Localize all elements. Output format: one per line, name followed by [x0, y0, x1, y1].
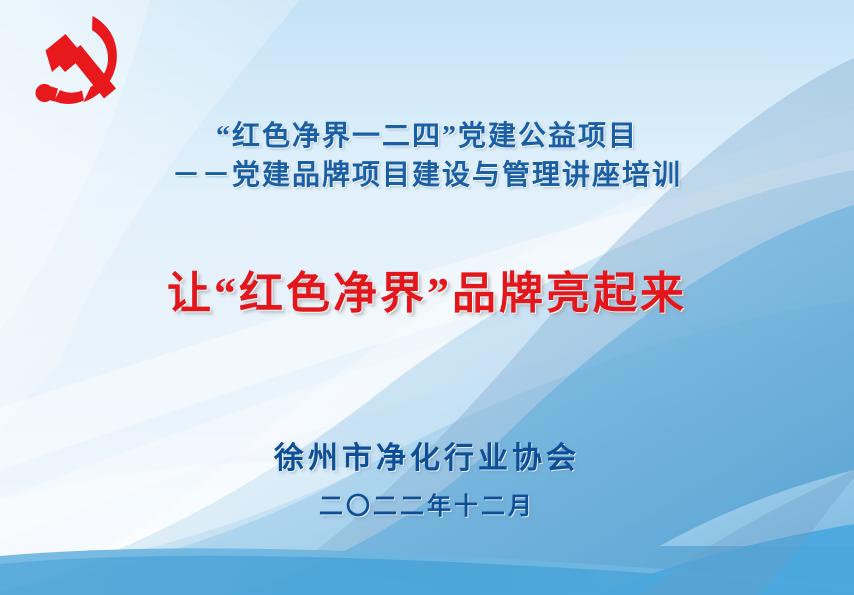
- presentation-slide: “红色净界一二四”党建公益项目 －－党建品牌项目建设与管理讲座培训 让“红色净界…: [0, 0, 854, 595]
- organization-name: 徐州市净化行业协会: [0, 439, 854, 479]
- subtitle-block: “红色净界一二四”党建公益项目 －－党建品牌项目建设与管理讲座培训: [0, 117, 854, 195]
- main-title-block: 让“红色净界”品牌亮起来: [0, 266, 854, 322]
- page-title: 让“红色净界”品牌亮起来: [0, 266, 854, 322]
- organization-block: 徐州市净化行业协会: [0, 439, 854, 479]
- subtitle-line-2: －－党建品牌项目建设与管理讲座培训: [0, 156, 854, 195]
- cpc-hammer-sickle-emblem: [18, 12, 130, 114]
- subtitle-line-1: “红色净界一二四”党建公益项目: [0, 117, 854, 156]
- date-text: 二〇二二年十二月: [0, 490, 854, 524]
- date-block: 二〇二二年十二月: [0, 490, 854, 524]
